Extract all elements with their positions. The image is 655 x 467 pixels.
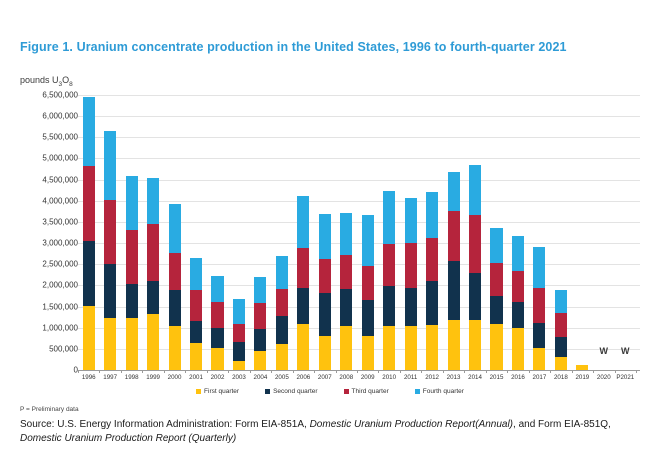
y-axis-units-label: pounds U3O8 — [20, 75, 73, 88]
source-text-a: Source: U.S. Energy Information Administ… — [20, 419, 310, 430]
bar-segment-q2 — [211, 328, 223, 348]
bar-segment-q3 — [104, 200, 116, 265]
x-axis-tickmark — [529, 370, 530, 373]
bar-segment-q2 — [362, 300, 374, 336]
y-axis-tick-label: 1,500,000 — [42, 302, 78, 311]
bar-segment-q4 — [83, 97, 95, 166]
legend-swatch — [415, 389, 420, 394]
bar-stack[interactable] — [211, 276, 223, 370]
bar-segment-q4 — [254, 277, 266, 303]
bar-segment-q3 — [297, 248, 309, 287]
bar-segment-q3 — [254, 303, 266, 329]
bar-segment-q3 — [512, 271, 524, 302]
x-axis-tickmark — [293, 370, 294, 373]
bar-segment-q3 — [405, 243, 417, 288]
bars-plot-area — [78, 95, 636, 370]
bar-segment-q1 — [448, 320, 460, 370]
source-note: Source: U.S. Energy Information Administ… — [20, 418, 645, 446]
y-axis-tick-label: 5,500,000 — [42, 133, 78, 142]
bar-stack[interactable] — [276, 256, 288, 370]
legend-item[interactable]: Third quarter — [344, 388, 389, 395]
bar-segment-q4 — [190, 258, 202, 290]
page-title: Figure 1. Uranium concentrate production… — [20, 40, 640, 54]
bar-segment-q1 — [490, 324, 502, 370]
bar-segment-q2 — [297, 288, 309, 324]
bar-segment-q2 — [169, 290, 181, 327]
x-axis-tickmark — [336, 370, 337, 373]
y-axis-tick-label: 3,000,000 — [42, 239, 78, 248]
x-axis-tickmark — [550, 370, 551, 373]
x-axis-tick-label: 2002 — [211, 374, 225, 381]
x-axis-tickmark — [443, 370, 444, 373]
bar-segment-q2 — [104, 264, 116, 318]
bar-segment-q1 — [555, 357, 567, 370]
bar-stack[interactable] — [512, 236, 524, 371]
x-axis-tick-label: 2014 — [468, 374, 482, 381]
bar-segment-q4 — [383, 191, 395, 243]
chart-plot-wrapper: 0500,0001,000,0001,500,0002,000,0002,500… — [20, 95, 640, 385]
bar-stack[interactable] — [469, 165, 481, 370]
bar-stack[interactable] — [405, 198, 417, 370]
preliminary-data-note: P = Preliminary data — [20, 406, 79, 413]
source-report-title-annual: Domestic Uranium Production Report — [310, 419, 476, 430]
x-axis-tickmark — [486, 370, 487, 373]
bar-segment-q4 — [448, 172, 460, 210]
x-axis-tick-label: 2004 — [254, 374, 268, 381]
bar-segment-q4 — [169, 204, 181, 254]
x-axis-tickmark — [507, 370, 508, 373]
x-axis-tickmark — [99, 370, 100, 373]
bar-stack[interactable] — [233, 299, 245, 370]
bar-stack[interactable] — [83, 97, 95, 370]
x-axis-tick-label: 2018 — [554, 374, 568, 381]
bar-stack[interactable] — [533, 247, 545, 370]
bar-segment-q4 — [233, 299, 245, 324]
bar-segment-q3 — [362, 266, 374, 300]
bar-segment-q3 — [126, 230, 138, 285]
bar-segment-q1 — [576, 365, 588, 370]
y-axis-tick-label: 4,000,000 — [42, 196, 78, 205]
bar-segment-q4 — [126, 176, 138, 229]
x-axis-tick-label: 2020 — [597, 374, 611, 381]
bar-segment-q3 — [469, 215, 481, 273]
x-axis-tick-label: 2010 — [382, 374, 396, 381]
bar-segment-q2 — [448, 261, 460, 320]
bar-segment-q2 — [126, 284, 138, 318]
x-axis-tick-label: 1999 — [146, 374, 160, 381]
bar-stack[interactable] — [254, 277, 266, 370]
bar-segment-q3 — [340, 255, 352, 289]
bar-segment-q2 — [83, 241, 95, 306]
legend-label: Fourth quarter — [423, 388, 464, 395]
x-axis-tick-label: 2006 — [296, 374, 310, 381]
x-axis-tick-label: 2003 — [232, 374, 246, 381]
x-axis-tickmark — [271, 370, 272, 373]
bar-segment-q1 — [83, 306, 95, 370]
bar-segment-q2 — [254, 329, 266, 350]
bar-stack[interactable] — [383, 191, 395, 370]
bar-segment-q2 — [233, 342, 245, 361]
legend-label: Third quarter — [352, 388, 389, 395]
x-axis-tickmark — [185, 370, 186, 373]
legend-item[interactable]: First quarter — [196, 388, 239, 395]
x-axis-tick-label: 2017 — [533, 374, 547, 381]
x-axis-tick-label: 1997 — [103, 374, 117, 381]
y-axis-tick-label: 2,500,000 — [42, 260, 78, 269]
bar-stack[interactable] — [147, 178, 159, 370]
units-prefix: pounds U — [20, 75, 59, 85]
y-axis-tick-label: 1,000,000 — [42, 323, 78, 332]
bar-segment-q4 — [319, 214, 331, 259]
bar-segment-q3 — [211, 302, 223, 328]
bar-segment-q2 — [469, 273, 481, 320]
x-axis-tick-label: 1996 — [82, 374, 96, 381]
y-axis-tick-label: 6,000,000 — [42, 112, 78, 121]
x-axis-tickmark — [593, 370, 594, 373]
bar-segment-q2 — [276, 316, 288, 344]
bar-segment-q2 — [533, 323, 545, 348]
bar-segment-q2 — [319, 293, 331, 336]
bar-stack[interactable] — [104, 131, 116, 370]
x-axis-tickmark — [636, 370, 637, 373]
x-axis-tick-label: 2016 — [511, 374, 525, 381]
bar-segment-q1 — [104, 318, 116, 370]
bar-segment-q3 — [147, 224, 159, 282]
bar-segment-q3 — [533, 288, 545, 323]
bar-segment-q3 — [190, 290, 202, 320]
bar-segment-q2 — [405, 288, 417, 326]
legend-item[interactable]: Fourth quarter — [415, 388, 464, 395]
bar-segment-q1 — [147, 314, 159, 370]
bar-segment-q2 — [555, 337, 567, 357]
bar-stack[interactable] — [362, 215, 374, 370]
bar-segment-q1 — [126, 318, 138, 370]
x-axis-tickmark — [572, 370, 573, 373]
x-axis-tickmark — [142, 370, 143, 373]
bar-segment-q2 — [190, 321, 202, 343]
bar-stack[interactable] — [126, 176, 138, 370]
x-axis-tick-label: 2015 — [490, 374, 504, 381]
x-axis-tick-label: 2011 — [404, 374, 417, 381]
bar-stack[interactable] — [190, 258, 202, 370]
x-axis-tickmark — [250, 370, 251, 373]
withheld-marker: W — [600, 346, 609, 356]
x-axis-tickmark — [615, 370, 616, 373]
bar-segment-q4 — [362, 215, 374, 266]
bar-stack[interactable] — [169, 204, 181, 370]
y-axis-tick-label: 6,500,000 — [42, 91, 78, 100]
bar-segment-q4 — [426, 192, 438, 238]
bar-segment-q3 — [276, 289, 288, 316]
x-axis-tick-label: 2001 — [189, 374, 203, 381]
x-axis-tick-label: 2000 — [168, 374, 182, 381]
bar-segment-q1 — [340, 326, 352, 370]
y-axis-tick-label: 2,000,000 — [42, 281, 78, 290]
bar-segment-q3 — [169, 253, 181, 289]
bar-segment-q4 — [469, 165, 481, 215]
bar-segment-q3 — [426, 238, 438, 281]
chart-legend: First quarterSecond quarterThird quarter… — [20, 388, 640, 395]
bar-stack[interactable] — [319, 214, 331, 370]
x-axis-tick-label: 2013 — [447, 374, 461, 381]
x-axis-tickmark — [78, 370, 79, 373]
legend-swatch — [344, 389, 349, 394]
bar-segment-q2 — [147, 281, 159, 314]
bar-segment-q1 — [426, 325, 438, 370]
bar-segment-q4 — [555, 290, 567, 313]
y-axis-tick-label: 500,000 — [49, 344, 78, 353]
bar-segment-q4 — [276, 256, 288, 289]
x-axis-tickmark — [228, 370, 229, 373]
bar-segment-q2 — [340, 289, 352, 326]
x-axis-tick-label: 2008 — [339, 374, 353, 381]
source-annual-qualifier: (Annual) — [475, 419, 513, 430]
x-axis-tickmark — [378, 370, 379, 373]
bar-segment-q3 — [233, 324, 245, 342]
x-axis-tick-label: 2012 — [425, 374, 439, 381]
legend-swatch — [196, 389, 201, 394]
units-sub-8: 8 — [69, 81, 73, 88]
bar-segment-q1 — [533, 348, 545, 370]
bar-segment-q1 — [211, 348, 223, 370]
x-axis-tickmark — [357, 370, 358, 373]
bar-stack[interactable] — [426, 192, 438, 370]
bar-segment-q4 — [147, 178, 159, 224]
figure-page: Figure 1. Uranium concentrate production… — [0, 0, 655, 467]
legend-swatch — [265, 389, 270, 394]
x-axis-tick-label: 2005 — [275, 374, 289, 381]
bar-segment-q3 — [555, 313, 567, 338]
bar-segment-q4 — [533, 247, 545, 288]
bar-segment-q1 — [169, 326, 181, 370]
y-axis-tick-label: 4,500,000 — [42, 175, 78, 184]
y-axis-tick-label: 3,500,000 — [42, 217, 78, 226]
legend-label: First quarter — [204, 388, 239, 395]
x-axis-tick-label: 2009 — [361, 374, 375, 381]
y-axis-tick-label: 5,000,000 — [42, 154, 78, 163]
legend-item[interactable]: Second quarter — [265, 388, 317, 395]
bar-segment-q1 — [276, 344, 288, 370]
bar-segment-q3 — [490, 263, 502, 297]
bar-segment-q3 — [383, 244, 395, 286]
x-axis-tick-label: 2019 — [575, 374, 589, 381]
bar-stack[interactable] — [555, 290, 567, 370]
bar-segment-q4 — [512, 236, 524, 271]
bar-segment-q4 — [211, 276, 223, 302]
bar-segment-q4 — [490, 228, 502, 262]
bar-segment-q1 — [319, 336, 331, 370]
bar-stack[interactable] — [297, 196, 309, 370]
legend-label: Second quarter — [273, 388, 317, 395]
bar-segment-q3 — [319, 259, 331, 293]
bar-stack[interactable] — [340, 213, 352, 370]
x-axis-tickmark — [207, 370, 208, 373]
bar-segment-q2 — [383, 286, 395, 326]
source-text-b: , and Form EIA-851Q, — [513, 419, 611, 430]
x-axis-tick-label: 2007 — [318, 374, 332, 381]
x-axis-tickmark — [421, 370, 422, 373]
x-axis-tickmark — [164, 370, 165, 373]
bar-segment-q4 — [405, 198, 417, 243]
bar-segment-q1 — [383, 326, 395, 370]
bar-stack[interactable] — [448, 172, 460, 370]
bar-stack[interactable] — [576, 365, 588, 370]
bar-segment-q1 — [362, 336, 374, 370]
bar-segment-q3 — [83, 166, 95, 240]
x-axis-tick-label: 1998 — [125, 374, 139, 381]
x-axis-tickmark — [121, 370, 122, 373]
x-axis-tickmark — [314, 370, 315, 373]
bar-segment-q3 — [448, 211, 460, 261]
bar-segment-q1 — [233, 361, 245, 370]
bar-segment-q1 — [254, 351, 266, 370]
bar-segment-q4 — [340, 213, 352, 256]
withheld-marker: W — [621, 346, 630, 356]
bar-segment-q1 — [469, 320, 481, 370]
x-axis-tickmark — [400, 370, 401, 373]
x-axis-tick-label: P2021 — [616, 374, 634, 381]
bar-segment-q2 — [490, 296, 502, 324]
bar-segment-q1 — [405, 326, 417, 370]
bar-segment-q2 — [426, 281, 438, 325]
bar-segment-q1 — [190, 343, 202, 370]
bar-stack[interactable] — [490, 228, 502, 370]
bar-segment-q4 — [297, 196, 309, 248]
bar-segment-q1 — [512, 328, 524, 370]
bar-segment-q1 — [297, 324, 309, 370]
bar-segment-q2 — [512, 302, 524, 328]
bar-segment-q4 — [104, 131, 116, 199]
x-axis-tickmark — [464, 370, 465, 373]
source-report-title-quarterly: Domestic Uranium Production Report (Quar… — [20, 433, 236, 444]
